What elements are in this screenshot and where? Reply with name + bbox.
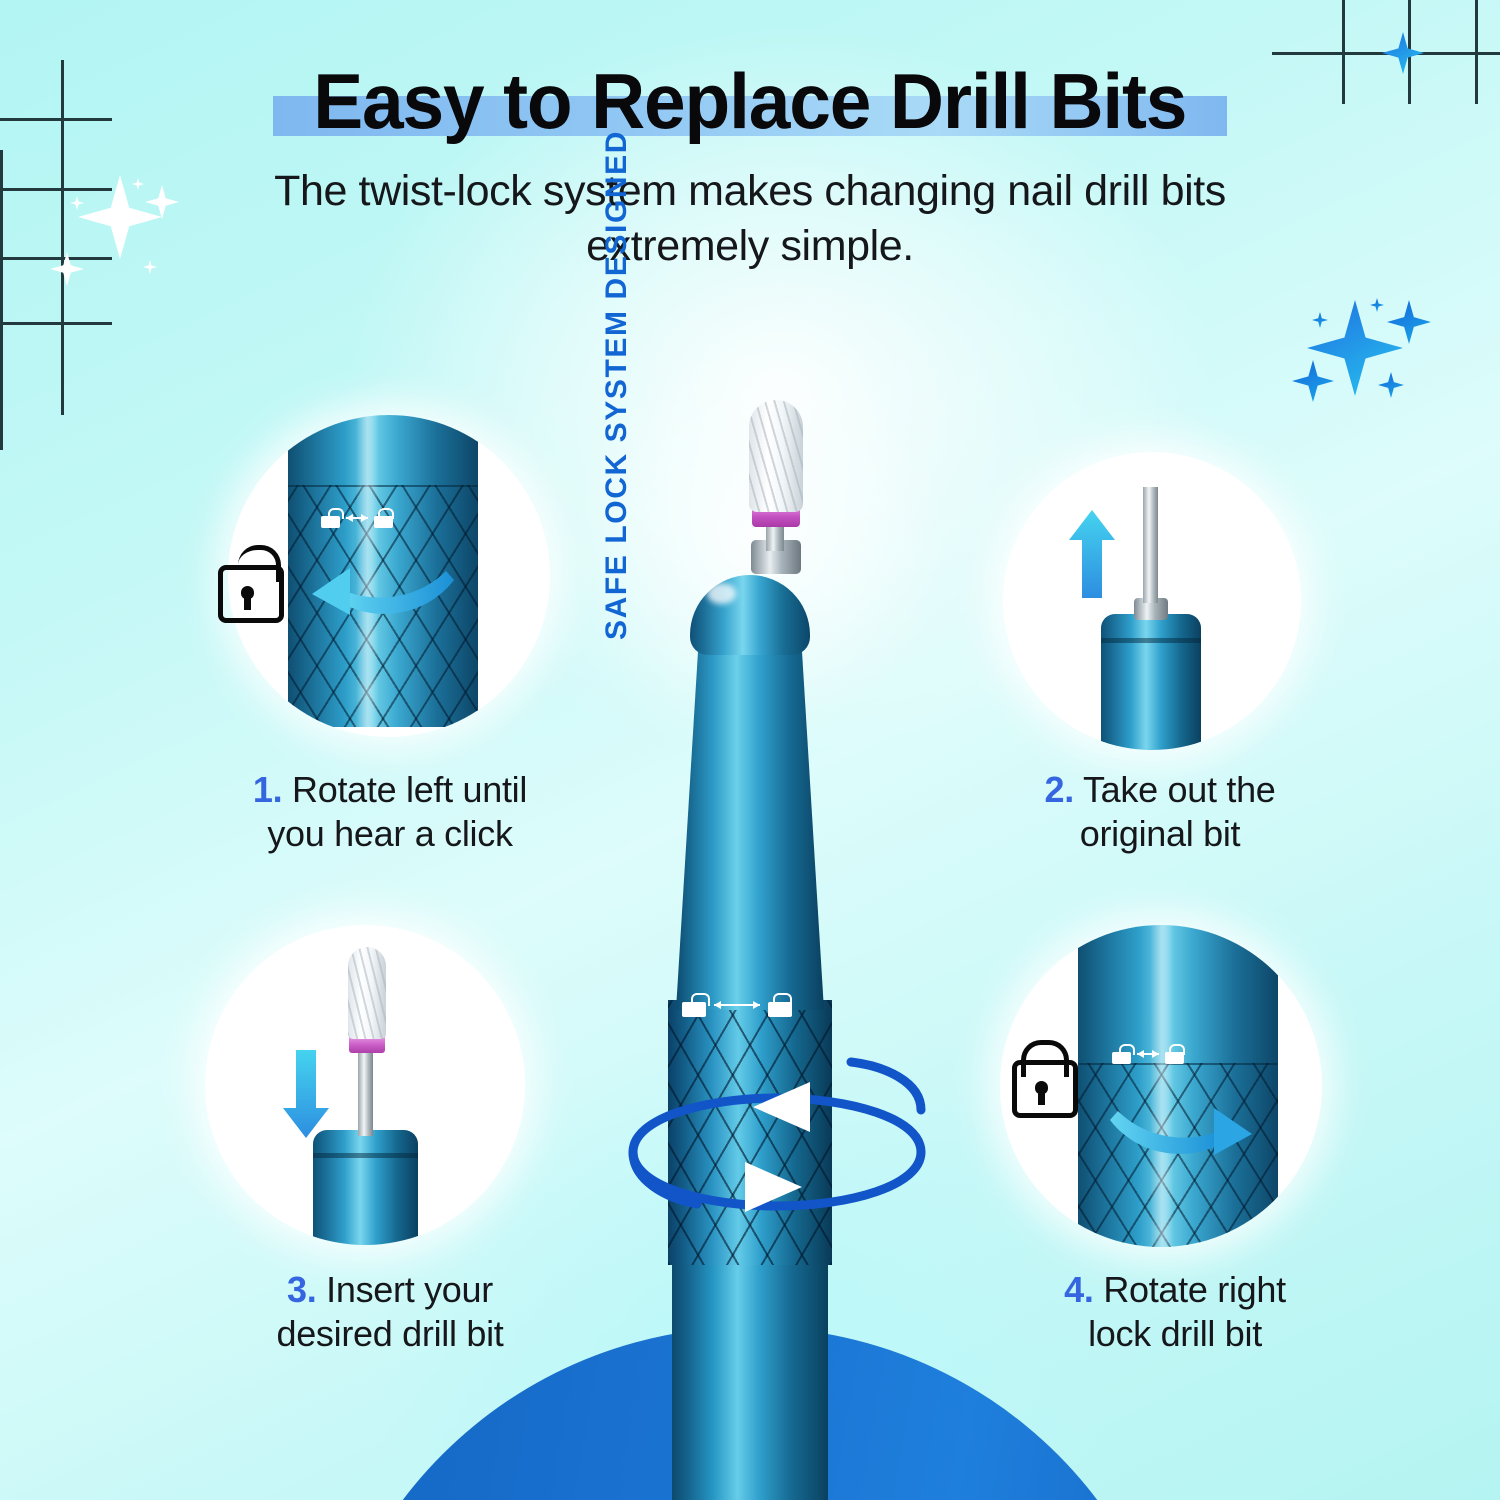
- bidirectional-arrow-icon: [346, 517, 368, 519]
- grip-knurling: [668, 1000, 832, 1265]
- sparkle-icon: [1378, 372, 1404, 398]
- step-3-number: 3.: [287, 1269, 316, 1310]
- mini-unlock-icon: [1112, 1044, 1131, 1064]
- rotate-right-arrow-icon: [1108, 1103, 1258, 1161]
- collar-ring: [313, 1153, 418, 1158]
- mini-lock-shackle: [1169, 1044, 1185, 1055]
- mini-lock-body: [768, 1002, 792, 1017]
- drill-collar: [1078, 925, 1278, 1247]
- sparkle-icon: [1387, 300, 1431, 344]
- padlock-keyhole-stem: [1038, 1091, 1045, 1105]
- padlock-shackle-open: [238, 545, 281, 582]
- infographic-canvas: Easy to Replace Drill Bits The twist-loc…: [0, 0, 1500, 1500]
- collar-top-band: [288, 415, 478, 487]
- rotate-left-arrow-icon: [306, 563, 456, 621]
- step-2-number: 2.: [1044, 769, 1073, 810]
- sparkle-icon: [1312, 312, 1328, 328]
- sparkle-icon: [1292, 360, 1334, 402]
- collar-ring: [1101, 638, 1201, 643]
- page-subtitle: The twist-lock system makes changing nai…: [210, 164, 1290, 276]
- drill-collar: [1101, 614, 1201, 750]
- header: Easy to Replace Drill Bits The twist-loc…: [0, 0, 1500, 275]
- mini-lock-shackle: [691, 993, 710, 1006]
- padlock-shackle-closed: [1021, 1040, 1069, 1077]
- mini-lock-shackle: [378, 508, 394, 519]
- mini-lock-icon: [768, 993, 792, 1017]
- step-1-caption: 1. Rotate left until you hear a click: [160, 768, 620, 856]
- mini-unlock-icon: [321, 508, 340, 528]
- ceramic-drill-bit: [348, 947, 386, 1039]
- metal-shaft: [358, 1051, 373, 1136]
- bidirectional-arrow-icon: [1137, 1053, 1159, 1055]
- step-4-caption: 4. Rotate right lock drill bit: [960, 1268, 1390, 1356]
- step-4-text: Rotate right lock drill bit: [1088, 1269, 1286, 1354]
- mini-lock-shackle: [773, 993, 792, 1006]
- metal-shaft: [1143, 487, 1158, 603]
- step-1-text: Rotate left until you hear a click: [267, 769, 527, 854]
- page-title-wrap: Easy to Replace Drill Bits: [287, 62, 1213, 142]
- rotation-swirl-icon: [605, 1040, 945, 1250]
- mini-lock-shackle: [1119, 1044, 1135, 1055]
- step-2-caption: 2. Take out the original bit: [950, 768, 1370, 856]
- mini-lock-body: [682, 1002, 706, 1017]
- sparkle-icon: [1370, 298, 1384, 312]
- step-1-number: 1.: [253, 769, 282, 810]
- arrow-up-icon: [1069, 510, 1115, 598]
- collar-lock-indicator: [321, 507, 393, 529]
- arrow-down-icon: [283, 1050, 329, 1138]
- device-handle-lower: [672, 1060, 828, 1500]
- decor-grid-line: [0, 322, 112, 325]
- collar-gloss: [1150, 925, 1174, 1247]
- step-2-illustration: [1003, 452, 1301, 750]
- step-4-number: 4.: [1064, 1269, 1093, 1310]
- center-glow: [560, 330, 960, 750]
- mini-lock-shackle: [328, 508, 344, 519]
- lock-icon: [1012, 1040, 1078, 1118]
- padlock-keyhole-stem: [244, 596, 251, 610]
- mini-lock-icon: [374, 508, 393, 528]
- drill-collar: [313, 1130, 418, 1245]
- page-title: Easy to Replace Drill Bits: [306, 62, 1194, 142]
- mini-lock-icon: [1165, 1044, 1184, 1064]
- device-knurled-grip: [668, 1000, 832, 1265]
- unlock-icon: [218, 545, 284, 623]
- mini-unlock-icon: [682, 993, 706, 1017]
- barrel-lock-indicator: [682, 992, 792, 1018]
- collar-lock-indicator: [1112, 1043, 1184, 1065]
- bidirectional-arrow-icon: [714, 1004, 760, 1006]
- step-3-caption: 3. Insert your desired drill bit: [180, 1268, 600, 1356]
- step-3-illustration: [205, 925, 525, 1245]
- step-2-text: Take out the original bit: [1080, 769, 1276, 854]
